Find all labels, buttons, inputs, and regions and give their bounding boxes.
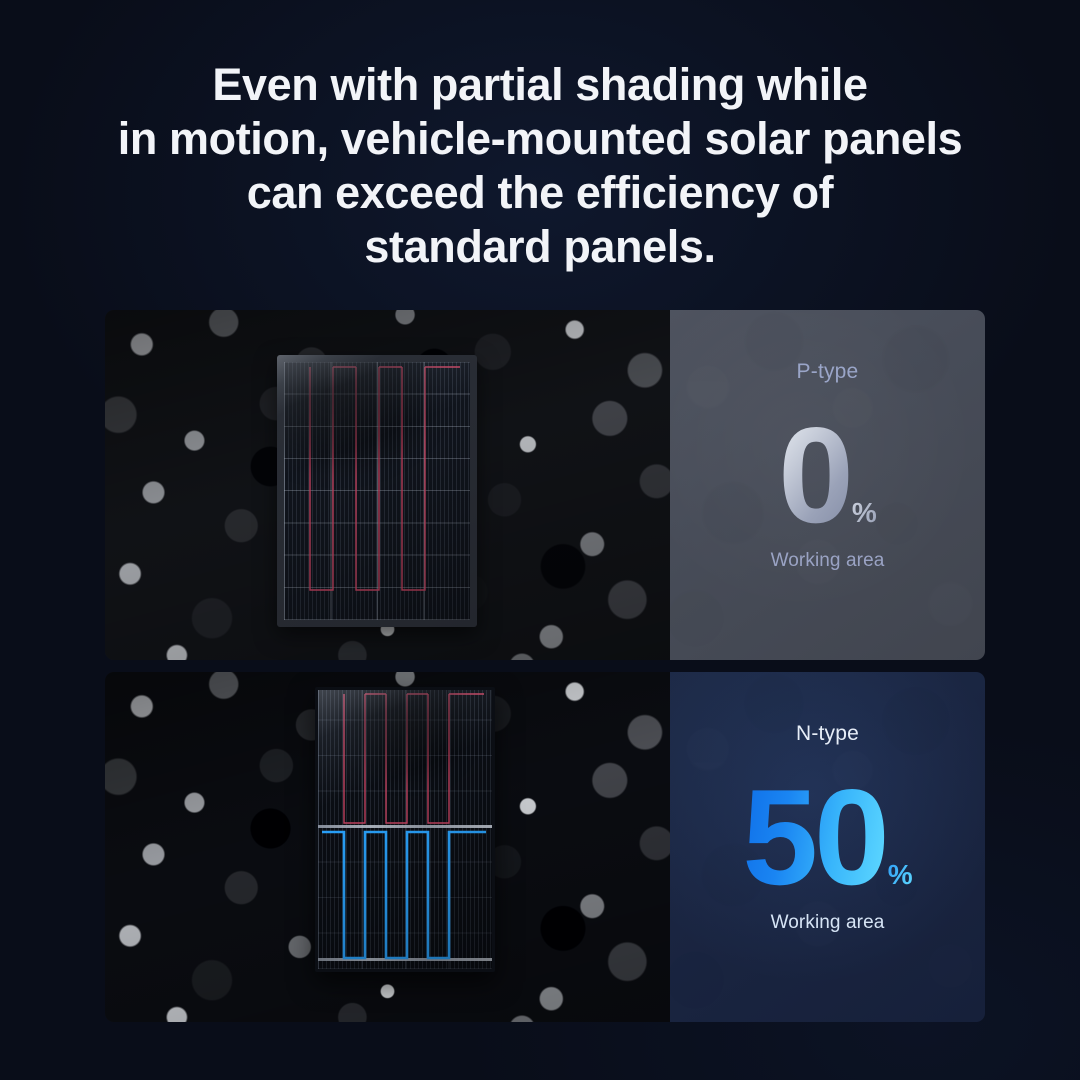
- stat-unit-n-type: %: [888, 863, 913, 887]
- card-caption-n-type: Working area: [771, 912, 885, 934]
- panel-photo-n-type: [105, 672, 670, 1022]
- stat-value-n-type: 50: [742, 780, 885, 894]
- solar-panel-p-type: [277, 355, 477, 627]
- stat-card-n-type: N-type 50 % Working area: [670, 672, 985, 1022]
- stat-block-p-type: 0 %: [778, 418, 877, 532]
- card-title-n-type: N-type: [796, 722, 859, 746]
- stat-block-n-type: 50 %: [742, 780, 912, 894]
- circuit-path-split: [318, 690, 492, 969]
- stat-value-p-type: 0: [778, 418, 850, 532]
- comparison-rows: P-type 0 % Working area: [105, 310, 985, 1022]
- comparison-row-n-type: N-type 50 % Working area: [105, 672, 985, 1022]
- comparison-row-p-type: P-type 0 % Working area: [105, 310, 985, 660]
- page-headline: Even with partial shading while in motio…: [0, 58, 1080, 274]
- circuit-path-red: [284, 362, 470, 620]
- card-title-p-type: P-type: [797, 360, 859, 384]
- panel-photo-p-type: [105, 310, 670, 660]
- solar-panel-n-type: [315, 687, 495, 972]
- stat-card-p-type: P-type 0 % Working area: [670, 310, 985, 660]
- stat-unit-p-type: %: [852, 501, 877, 525]
- card-caption-p-type: Working area: [771, 550, 885, 572]
